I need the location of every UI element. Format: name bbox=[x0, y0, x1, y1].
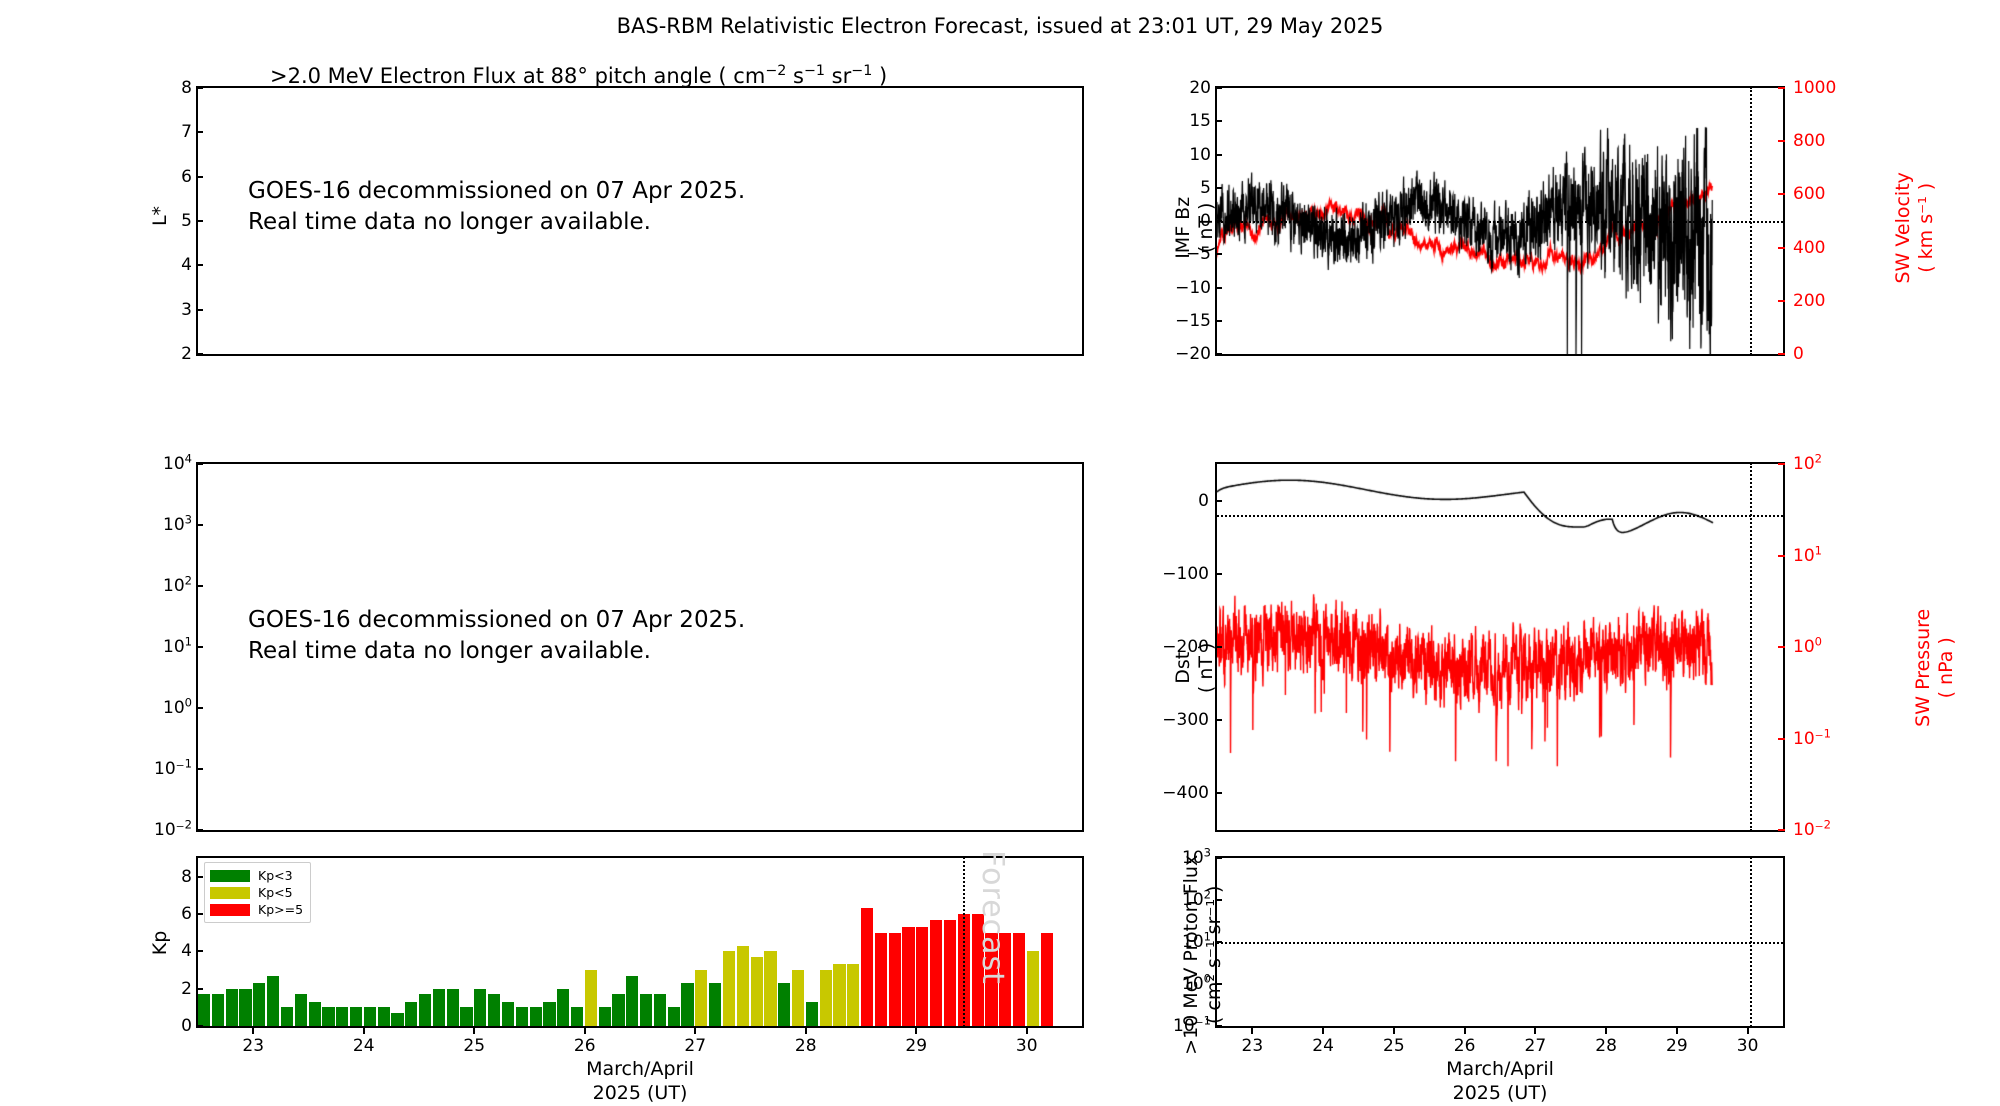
legend-label-kp-mid: Kp<5 bbox=[258, 885, 293, 900]
subtitle-sup-s: −1 bbox=[804, 63, 825, 79]
proton-xtick-1: 24 bbox=[1312, 1036, 1334, 1056]
kp-bar bbox=[281, 1007, 293, 1026]
imf-ytick-mark-0 bbox=[1215, 87, 1222, 89]
imf-bz-axis-label-line2: ( nT ) bbox=[1195, 138, 1218, 318]
kp-bar bbox=[695, 970, 707, 1026]
swvel-ytick-4: 200 bbox=[1793, 291, 1825, 311]
legend-item-kp-high[interactable]: Kp>=5 bbox=[210, 901, 303, 918]
proton-xtick-mark-7 bbox=[1747, 1027, 1749, 1034]
dst-ytick-mark-0 bbox=[1215, 500, 1222, 502]
flux-ytick-mark-1 bbox=[196, 524, 203, 526]
proton-xtick-mark-4 bbox=[1534, 1027, 1536, 1034]
subtitle-sr: sr bbox=[825, 64, 851, 88]
kp-bar bbox=[668, 1007, 680, 1026]
swpress-ytick-mark-1 bbox=[1778, 555, 1785, 557]
flux-ytick-3: 101 bbox=[136, 637, 192, 657]
sw-pressure-axis-label-line1: SW Pressure bbox=[1912, 553, 1935, 783]
kp-bar bbox=[806, 1002, 818, 1026]
lstar-ytick-1: 7 bbox=[136, 122, 192, 142]
lstar-ytick-0: 8 bbox=[136, 78, 192, 98]
kp-bar bbox=[378, 1007, 390, 1026]
flux-ytick-2: 102 bbox=[136, 576, 192, 596]
kp-bar bbox=[875, 933, 887, 1026]
lstar-ytick-4: 4 bbox=[136, 255, 192, 275]
dst-ytick-0: 0 bbox=[1149, 491, 1209, 511]
dst-axis-label: Dst ( nT ) bbox=[1172, 578, 1218, 758]
kp-bar bbox=[599, 1007, 611, 1026]
kp-forecast-watermark: Forecast bbox=[975, 850, 1010, 985]
sw-velocity-axis-label: SW Velocity ( km s⁻¹ ) bbox=[1892, 123, 1938, 333]
swvel-ytick-3: 400 bbox=[1793, 238, 1825, 258]
proton-flux-axis-label-line2: ( cm² s⁻¹ sr⁻¹ ) bbox=[1203, 810, 1226, 1100]
subtitle-end: ) bbox=[872, 64, 887, 88]
kp-bar bbox=[530, 1007, 542, 1026]
swpress-ytick-mark-3 bbox=[1778, 738, 1785, 740]
proton-xtick-mark-6 bbox=[1676, 1027, 1678, 1034]
kp-bar bbox=[654, 994, 666, 1026]
kp-bar bbox=[751, 957, 763, 1026]
flux-ytick-5: 10⁻1 bbox=[136, 759, 192, 779]
kp-bar-group bbox=[198, 858, 1082, 1026]
dst-plot-canvas bbox=[1217, 464, 1783, 830]
kp-axis-label: Kp bbox=[149, 903, 171, 983]
imf-ytick-1: 15 bbox=[1155, 111, 1211, 131]
kp-bar bbox=[585, 970, 597, 1026]
legend-label-kp-high: Kp>=5 bbox=[258, 902, 303, 917]
legend-label-kp-low: Kp<3 bbox=[258, 868, 293, 883]
kp-xtick-mark-4 bbox=[694, 1027, 696, 1034]
proton-xtick-mark-2 bbox=[1393, 1027, 1395, 1034]
swvel-ytick-mark-0 bbox=[1778, 87, 1785, 89]
kp-bar bbox=[640, 994, 652, 1026]
kp-xtick-mark-2 bbox=[473, 1027, 475, 1034]
kp-bar bbox=[709, 983, 721, 1026]
kp-ytick-0: 8 bbox=[136, 867, 192, 887]
kp-xaxis-label-line2: 2025 (UT) bbox=[440, 1082, 840, 1106]
kp-bar bbox=[212, 994, 224, 1026]
kp-bar bbox=[239, 989, 251, 1026]
legend-swatch-yellow bbox=[210, 887, 250, 899]
flux-ytick-mark-2 bbox=[196, 585, 203, 587]
subtitle-sup-cm: −2 bbox=[765, 63, 786, 79]
lstar-ytick-mark-5 bbox=[196, 309, 203, 311]
proton-xtick-mark-1 bbox=[1322, 1027, 1324, 1034]
imf-ytick-mark-1 bbox=[1215, 120, 1222, 122]
imf-bz-axis-label: IMF Bz ( nT ) bbox=[1172, 138, 1218, 318]
flux-ytick-6: 10⁻2 bbox=[136, 820, 192, 840]
kp-bar bbox=[681, 983, 693, 1026]
kp-bar bbox=[847, 964, 859, 1026]
proton-flux-axis-label: >10 MeV Proton Flux ( cm² s⁻¹ sr⁻¹ ) bbox=[1180, 810, 1226, 1100]
swvel-ytick-5: 0 bbox=[1793, 344, 1804, 364]
flux-ytick-mark-3 bbox=[196, 646, 203, 648]
kp-xtick-3: 26 bbox=[574, 1036, 596, 1056]
proton-xtick-mark-5 bbox=[1605, 1027, 1607, 1034]
proton-xtick-6: 29 bbox=[1666, 1036, 1688, 1056]
swvel-ytick-mark-2 bbox=[1778, 193, 1785, 195]
imf-ytick-mark-7 bbox=[1215, 320, 1222, 322]
kp-bar bbox=[405, 1002, 417, 1026]
flux-ytick-mark-5 bbox=[196, 768, 203, 770]
flux-ytick-4: 100 bbox=[136, 698, 192, 718]
kp-bar bbox=[433, 989, 445, 1026]
swvel-ytick-mark-5 bbox=[1778, 353, 1785, 355]
kp-ytick-mark-2 bbox=[196, 950, 203, 952]
kp-bar bbox=[902, 927, 914, 1026]
imf-ytick-8: −20 bbox=[1155, 344, 1211, 364]
sw-pressure-axis-label-line2: ( nPa ) bbox=[1935, 553, 1958, 783]
kp-xtick-1: 24 bbox=[353, 1036, 375, 1056]
kp-ytick-mark-3 bbox=[196, 988, 203, 990]
lstar-ytick-mark-0 bbox=[196, 87, 203, 89]
kp-bar bbox=[916, 927, 928, 1026]
proton-xtick-3: 26 bbox=[1454, 1036, 1476, 1056]
lstar-ytick-mark-1 bbox=[196, 131, 203, 133]
lstar-ytick-mark-2 bbox=[196, 176, 203, 178]
kp-bar bbox=[364, 1007, 376, 1026]
lstar-ytick-6: 2 bbox=[136, 344, 192, 364]
swpress-ytick-4: 10⁻2 bbox=[1793, 820, 1831, 840]
swvel-ytick-1: 800 bbox=[1793, 131, 1825, 151]
imf-bz-axis-label-line1: IMF Bz bbox=[1172, 138, 1195, 318]
lstar-ytick-2: 6 bbox=[136, 167, 192, 187]
proton-xtick-0: 23 bbox=[1242, 1036, 1264, 1056]
proton-xtick-mark-0 bbox=[1251, 1027, 1253, 1034]
kp-ytick-4: 0 bbox=[136, 1016, 192, 1036]
sw-velocity-axis-label-line2: ( km s⁻¹ ) bbox=[1915, 123, 1938, 333]
proton-xtick-4: 27 bbox=[1525, 1036, 1547, 1056]
swpress-ytick-mark-0 bbox=[1778, 463, 1785, 465]
proton-xaxis-label: March/April 2025 (UT) bbox=[1300, 1058, 1700, 1106]
swpress-ytick-mark-2 bbox=[1778, 646, 1785, 648]
kp-bar bbox=[253, 983, 265, 1026]
swpress-ytick-3: 10⁻1 bbox=[1793, 729, 1831, 749]
kp-bar bbox=[1041, 933, 1053, 1026]
kp-bar bbox=[226, 989, 238, 1026]
proton-flux-axis-label-line1: >10 MeV Proton Flux bbox=[1180, 810, 1203, 1100]
electron-flux-subtitle: >2.0 MeV Electron Flux at 88° pitch angl… bbox=[270, 64, 887, 88]
kp-xtick-0: 23 bbox=[242, 1036, 264, 1056]
kp-bar bbox=[557, 989, 569, 1026]
swvel-ytick-mark-1 bbox=[1778, 140, 1785, 142]
kp-xtick-mark-0 bbox=[252, 1027, 254, 1034]
kp-bar bbox=[460, 1007, 472, 1026]
kp-bar bbox=[889, 933, 901, 1026]
kp-bar bbox=[502, 1002, 514, 1026]
dst-axis-label-line2: ( nT ) bbox=[1195, 578, 1218, 758]
kp-bar bbox=[543, 1002, 555, 1026]
swvel-ytick-mark-3 bbox=[1778, 247, 1785, 249]
kp-bar bbox=[930, 920, 942, 1026]
proton-xtick-7: 30 bbox=[1737, 1036, 1759, 1056]
proton-xtick-2: 25 bbox=[1383, 1036, 1405, 1056]
kp-bar bbox=[309, 1002, 321, 1026]
swpress-ytick-1: 101 bbox=[1793, 546, 1822, 566]
subtitle-prefix: >2.0 MeV Electron Flux at 88 bbox=[270, 64, 577, 88]
proton-xaxis-label-line2: 2025 (UT) bbox=[1300, 1082, 1700, 1106]
kp-xtick-mark-3 bbox=[584, 1027, 586, 1034]
lstar-ytick-5: 3 bbox=[136, 300, 192, 320]
imf-zero-line bbox=[1217, 221, 1783, 223]
proton-forecast-line bbox=[1750, 857, 1752, 1027]
kp-bar bbox=[198, 994, 210, 1026]
lstar-decommission-message: GOES-16 decommissioned on 07 Apr 2025. R… bbox=[248, 176, 745, 238]
kp-bar bbox=[612, 994, 624, 1026]
kp-bar bbox=[571, 1007, 583, 1026]
kp-bar bbox=[474, 989, 486, 1026]
proton-xtick-5: 28 bbox=[1595, 1036, 1617, 1056]
kp-xaxis-label-line1: March/April bbox=[440, 1058, 840, 1082]
kp-bar bbox=[764, 951, 776, 1026]
kp-xtick-mark-5 bbox=[805, 1027, 807, 1034]
kp-bar bbox=[626, 976, 638, 1026]
lstar-ytick-mark-4 bbox=[196, 264, 203, 266]
kp-xaxis-label: March/April 2025 (UT) bbox=[440, 1058, 840, 1106]
kp-ytick-mark-1 bbox=[196, 913, 203, 915]
kp-forecast-line bbox=[963, 857, 965, 1027]
swvel-ytick-2: 600 bbox=[1793, 184, 1825, 204]
kp-bar bbox=[391, 1013, 403, 1026]
flux-decommission-message: GOES-16 decommissioned on 07 Apr 2025. R… bbox=[248, 605, 745, 667]
swpress-ytick-2: 100 bbox=[1793, 637, 1822, 657]
dst-ytick-mark-1 bbox=[1215, 573, 1222, 575]
swpress-ytick-mark-4 bbox=[1778, 829, 1785, 831]
dst-zero-line bbox=[1217, 515, 1783, 517]
flux-ytick-mark-4 bbox=[196, 707, 203, 709]
kp-ytick-mark-4 bbox=[196, 1025, 203, 1027]
kp-xtick-4: 27 bbox=[684, 1036, 706, 1056]
kp-bar bbox=[820, 970, 832, 1026]
kp-bar bbox=[350, 1007, 362, 1026]
kp-xtick-5: 28 bbox=[795, 1036, 817, 1056]
proton-xaxis-label-line1: March/April bbox=[1300, 1058, 1700, 1082]
page-title: BAS-RBM Relativistic Electron Forecast, … bbox=[0, 14, 2000, 38]
kp-xtick-7: 30 bbox=[1016, 1036, 1038, 1056]
kp-bar bbox=[723, 951, 735, 1026]
kp-bar bbox=[1027, 951, 1039, 1026]
kp-bar bbox=[419, 994, 431, 1026]
dst-ytick-mark-4 bbox=[1215, 792, 1222, 794]
subtitle-s: s bbox=[786, 64, 804, 88]
imf-ytick-mark-8 bbox=[1215, 353, 1222, 355]
kp-bar bbox=[737, 946, 749, 1026]
legend-swatch-red bbox=[210, 904, 250, 916]
kp-bar bbox=[322, 1007, 334, 1026]
lstar-ytick-mark-3 bbox=[196, 220, 203, 222]
kp-xtick-mark-7 bbox=[1026, 1027, 1028, 1034]
kp-bar bbox=[267, 976, 279, 1026]
kp-axis-label-text: Kp bbox=[149, 931, 171, 956]
imf-ytick-0: 20 bbox=[1155, 78, 1211, 98]
kp-legend[interactable]: Kp<3 Kp<5 Kp>=5 bbox=[204, 862, 311, 923]
kp-xtick-6: 29 bbox=[905, 1036, 927, 1056]
kp-xtick-mark-1 bbox=[363, 1027, 365, 1034]
flux-ytick-0: 104 bbox=[136, 454, 192, 474]
kp-bar bbox=[488, 994, 500, 1026]
kp-bar bbox=[778, 983, 790, 1026]
proton-xtick-mark-3 bbox=[1464, 1027, 1466, 1034]
swpress-ytick-0: 102 bbox=[1793, 454, 1822, 474]
legend-swatch-green bbox=[210, 870, 250, 882]
kp-bar bbox=[792, 970, 804, 1026]
kp-bar bbox=[516, 1007, 528, 1026]
swvel-ytick-0: 1000 bbox=[1793, 78, 1836, 98]
degree-symbol: ° bbox=[577, 64, 588, 88]
kp-bar bbox=[1013, 933, 1025, 1026]
swvel-ytick-mark-4 bbox=[1778, 300, 1785, 302]
sw-velocity-axis-label-line1: SW Velocity bbox=[1892, 123, 1915, 333]
kp-xtick-2: 25 bbox=[463, 1036, 485, 1056]
legend-item-kp-low[interactable]: Kp<3 bbox=[210, 867, 303, 884]
kp-bar bbox=[295, 994, 307, 1026]
dst-forecast-line bbox=[1750, 463, 1752, 831]
dst-ytick-4: −400 bbox=[1149, 783, 1209, 803]
flux-ytick-mark-0 bbox=[196, 463, 203, 465]
subtitle-mid: pitch angle ( cm bbox=[588, 64, 765, 88]
proton-threshold-line bbox=[1217, 942, 1783, 944]
lstar-ytick-3: 5 bbox=[136, 211, 192, 231]
imf-forecast-line bbox=[1750, 87, 1752, 355]
legend-item-kp-mid[interactable]: Kp<5 bbox=[210, 884, 303, 901]
lstar-ytick-mark-6 bbox=[196, 353, 203, 355]
subtitle-sup-sr: −1 bbox=[851, 63, 872, 79]
kp-xtick-mark-6 bbox=[915, 1027, 917, 1034]
kp-bar bbox=[944, 920, 956, 1026]
kp-ytick-mark-0 bbox=[196, 876, 203, 878]
dst-axis-label-line1: Dst bbox=[1172, 578, 1195, 758]
kp-bar bbox=[336, 1007, 348, 1026]
kp-bar bbox=[833, 964, 845, 1026]
sw-pressure-axis-label: SW Pressure ( nPa ) bbox=[1912, 553, 1958, 783]
kp-bar bbox=[861, 908, 873, 1026]
flux-ytick-1: 103 bbox=[136, 515, 192, 535]
flux-ytick-mark-6 bbox=[196, 829, 203, 831]
kp-bar bbox=[447, 989, 459, 1026]
